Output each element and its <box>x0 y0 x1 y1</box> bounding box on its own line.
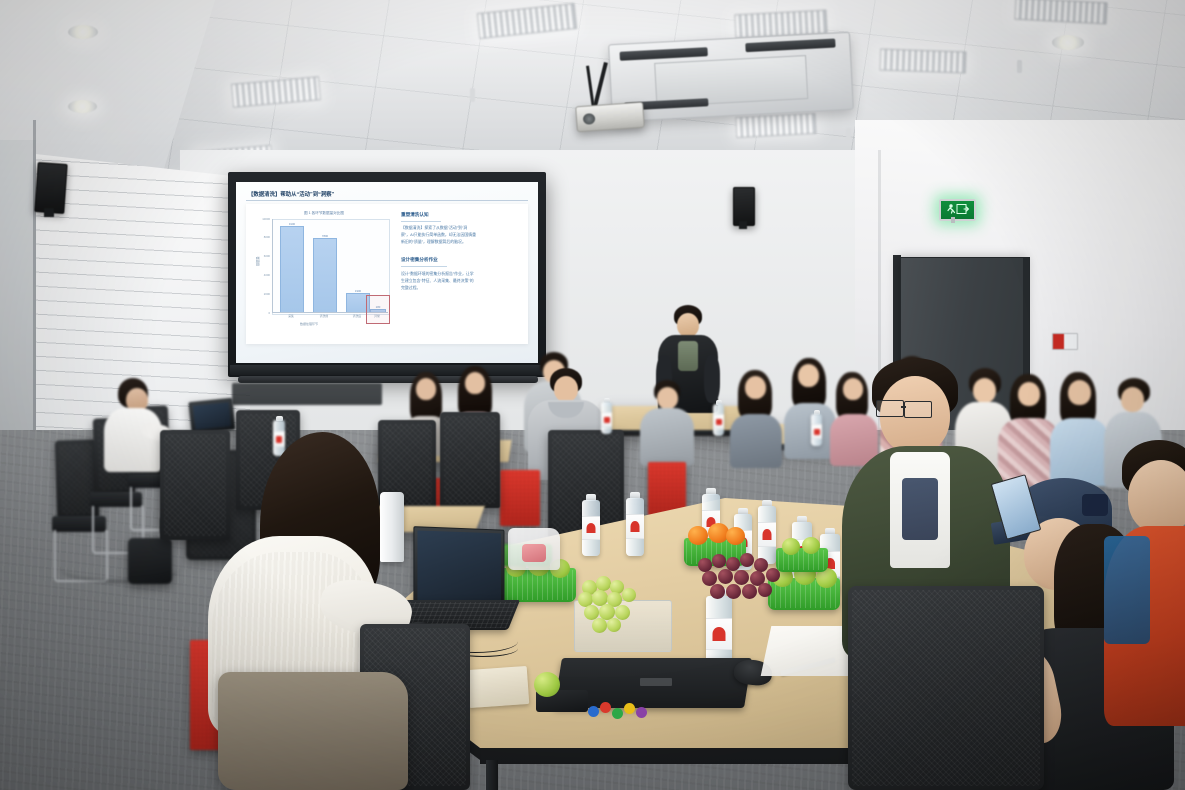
sprinkler-head <box>470 88 475 102</box>
classroom-photo: 【数据清洗】帮助从“活动”到“洞察” 图 1 各环节数据量对比图 数据量 0 2… <box>0 0 1185 790</box>
projection-screen-surface: 【数据清洗】帮助从“活动”到“洞察” 图 1 各环节数据量对比图 数据量 0 2… <box>236 182 538 363</box>
chart: 图 1 各环节数据量对比图 数据量 0 2000 4000 6000 8000 … <box>256 210 392 330</box>
slide-paragraph-line: 设计“数据环境的密集分析报告”作业，让学 <box>401 271 525 277</box>
sprinkler-head <box>1017 60 1022 73</box>
mesh-office-chair[interactable] <box>848 586 1044 790</box>
exit-sign-bracket <box>951 217 955 223</box>
head <box>1128 460 1185 534</box>
water-bottle[interactable] <box>624 492 646 556</box>
fluorescent-panel-light <box>880 49 967 74</box>
chart-bar-value: 1900 <box>355 289 361 293</box>
call-point-red-face <box>1053 334 1064 349</box>
ceiling-cassette-air-conditioner <box>608 32 854 123</box>
snack-contents <box>522 544 546 562</box>
laptop[interactable] <box>188 398 235 434</box>
attendee <box>640 380 694 464</box>
slide: 【数据清洗】帮助从“活动”到“洞察” 图 1 各环节数据量对比图 数据量 0 2… <box>236 182 538 363</box>
water-bottle[interactable] <box>580 494 602 556</box>
slide-paragraph-line: 新旧的“质量”，理解数据背后的脑况。 <box>401 239 525 245</box>
shirt-graphic <box>902 478 938 540</box>
chart-ytick: 8000 <box>264 235 270 239</box>
eyeglasses <box>876 400 904 417</box>
chart-ytick: 10000 <box>262 217 270 221</box>
red-grapes <box>692 548 812 612</box>
floor-cable <box>60 555 180 582</box>
water-bottle[interactable] <box>712 400 725 436</box>
slide-heading-2-rule <box>401 266 447 267</box>
exit-running-man-icon <box>945 203 971 217</box>
attendee <box>730 370 782 466</box>
orange <box>726 527 745 545</box>
slide-heading-2: 设计密集分析作业 <box>401 257 438 263</box>
desk-toys[interactable] <box>588 700 658 724</box>
chart-ytick: 4000 <box>264 273 270 277</box>
slide-heading-1: 重塑清洗认知 <box>401 212 429 218</box>
chart-y-axis-line <box>272 219 273 313</box>
recessed-downlight <box>1052 35 1084 50</box>
green-fruit-basket[interactable] <box>500 568 576 602</box>
torso <box>104 408 162 472</box>
green-apple <box>534 672 560 697</box>
slide-paragraph-line: 完整过程。 <box>401 285 525 291</box>
slide-paragraph-line: 【数据清洗】探索了从数据“活动”到“洞 <box>401 225 525 231</box>
chart-ylabel: 数据量 <box>255 256 260 266</box>
chart-bar-value: 9100 <box>289 222 295 226</box>
chart-ytick: 6000 <box>264 254 270 258</box>
table-leg <box>486 760 498 790</box>
chart-bar: 7800 <box>313 238 337 313</box>
fluorescent-panel-light <box>736 113 817 138</box>
slide-paragraph-line: 察”，AI只能执行简单函数，却无法因国情重 <box>401 232 525 238</box>
chart-xtick: 清洗前 <box>320 314 328 318</box>
eyeglasses <box>904 401 932 418</box>
orange <box>688 526 708 545</box>
collar <box>678 341 698 371</box>
ac-vent <box>745 38 835 52</box>
slide-paragraph-line: 生建立包含“特征、人流采集、最终决策”的 <box>401 278 525 284</box>
sprinkler-head <box>846 128 851 140</box>
recessed-downlight <box>68 25 98 39</box>
backpack-strap <box>1104 536 1150 644</box>
attendee <box>96 378 168 483</box>
slide-title: 【数据清洗】帮助从“活动”到“洞察” <box>248 190 526 198</box>
chart-title: 图 1 各环节数据量对比图 <box>256 211 392 216</box>
water-bottle[interactable] <box>600 398 613 434</box>
chart-xtick: 清洗后 <box>353 314 361 318</box>
chart-ytick: 0 <box>268 311 270 315</box>
arm <box>704 355 720 403</box>
fire-alarm-call-point <box>1052 333 1078 350</box>
projector-lens <box>583 113 596 125</box>
chart-xlabel: 数据处理环节 <box>300 322 318 326</box>
green-grapes <box>572 572 672 642</box>
head <box>677 313 699 337</box>
call-point-label-plate <box>1064 334 1077 349</box>
recessed-downlight <box>68 100 97 113</box>
tissue-pack[interactable] <box>467 666 530 708</box>
ac-vent <box>620 47 708 61</box>
laptop-logo <box>640 678 672 686</box>
water-bottle[interactable] <box>810 410 823 446</box>
chart-xtick: 采集 <box>288 314 294 318</box>
projection-screen: 【数据清洗】帮助从“活动”到“洞察” 图 1 各环节数据量对比图 数据量 0 2… <box>228 172 546 377</box>
chart-highlight-box <box>366 295 390 324</box>
attendee <box>1050 372 1110 484</box>
speaker-bracket <box>739 221 747 229</box>
speaker-bracket <box>44 208 54 217</box>
eyeglass-bridge <box>901 406 906 408</box>
mesh-office-chair[interactable] <box>440 412 500 508</box>
chart-bar-value: 7800 <box>322 234 328 238</box>
laptop[interactable] <box>413 526 504 608</box>
slide-title-rule <box>246 200 528 201</box>
chart-bar: 9100 <box>280 226 304 314</box>
ceiling-mounted-projector <box>575 102 645 133</box>
draped-coat <box>218 672 408 790</box>
wall-speaker <box>34 162 67 214</box>
chart-ytick: 2000 <box>264 292 270 296</box>
slide-heading-1-rule <box>401 221 441 222</box>
emergency-exit-sign <box>939 199 976 221</box>
attendee-orange-jacket <box>1104 440 1185 730</box>
